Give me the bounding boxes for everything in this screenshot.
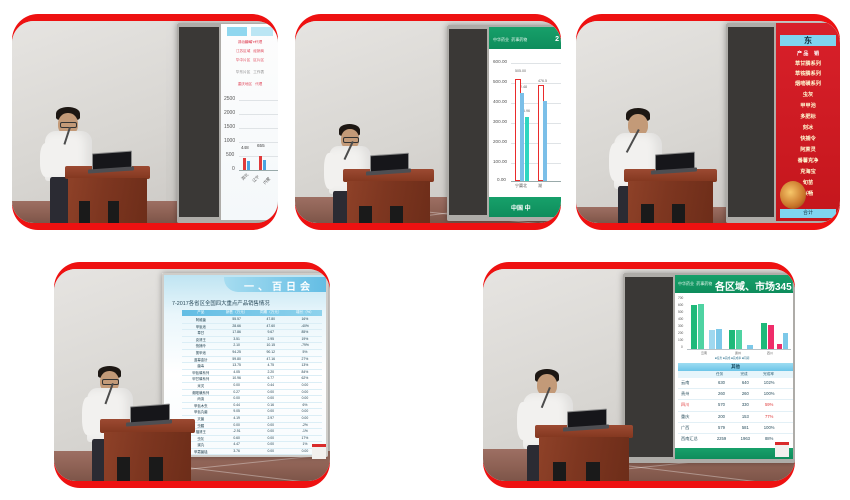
projection-screen: 中华药业 药事药物 2 中国 中 600.00 500.00 400.00 30…: [447, 25, 561, 221]
region-table: 其他 任务 完成完成率 云南630 640102% 贵州260 260100%: [678, 363, 793, 447]
table-row: 重庆200 15377%: [678, 412, 793, 423]
table-row: 云南630 640102%: [678, 378, 793, 389]
table-row: 甲氨磷系列4.052.2084%: [182, 370, 322, 377]
photo-1[interactable]: #8fd7ef 湖北区域 代理 江苏区域 经销商 华中片区 区片区 华东片区 工…: [12, 14, 278, 230]
podium: [65, 166, 150, 223]
table-group-header: 其他: [678, 363, 793, 371]
table-row: 丙溴0.000.000.00: [182, 396, 322, 403]
table-row: 甲甘磷系列10.966.7762%: [182, 376, 322, 383]
photo-4[interactable]: 一、百日会 7-2017各省区全国四大重点产品销售情况 产品 销售（万元） 同期…: [54, 262, 330, 488]
projection-screen: #8fd7ef 湖北区域 代理 江苏区域 经销商 华中片区 区片区 华东片区 工…: [177, 23, 278, 223]
photo-4-image: 一、百日会 7-2017各省区全国四大重点产品销售情况 产品 销售（万元） 同期…: [54, 269, 330, 481]
table-row: 贵州260 260100%: [678, 389, 793, 400]
table-row: 米灵0.000.440.00: [182, 383, 322, 390]
slide-region-performance: 中华药业 药事药物 各区域、市场345白 700 600 500 400 300…: [675, 275, 793, 459]
floor-object: [312, 444, 326, 459]
slide-red-product-list: 东 产 品 销 草甘膦系列 草铵膦系列 烟嘧磺系列 虫灰 甲甲池 多肥标 刻冰 …: [776, 23, 840, 221]
table-header-row: 任务 完成完成率: [678, 371, 793, 378]
slide-title-band: 东: [780, 35, 836, 46]
projection-screen: 东 产 品 销 草甘膦系列 草铵膦系列 烟嘧磺系列 虫灰 甲甲池 多肥标 刻冰 …: [726, 23, 840, 223]
decorative-graphic: [780, 181, 806, 209]
table-row: 菌毒13.754.7513%: [182, 363, 322, 370]
table-row: 虫腥0.000.00-2%: [182, 423, 322, 430]
slide-title: 各区域、市场345白: [715, 278, 793, 293]
table-row: 甲氨丸菌9.050.000.00: [182, 409, 322, 416]
slide-title: 一、百日会: [244, 278, 314, 293]
podium: [624, 169, 717, 223]
table-row: 广西579 581100%: [678, 423, 793, 434]
podium: [535, 425, 633, 481]
table-row: 福清王-2.910.00-1%: [182, 429, 322, 436]
table-row: 滅丸4.470.001%: [182, 442, 322, 449]
photo-3-image: 东 产 品 销 草甘膦系列 草铵膦系列 烟嘧磺系列 虫灰 甲甲池 多肥标 刻冰 …: [576, 21, 840, 223]
photo-3[interactable]: 东 产 品 销 草甘膦系列 草铵膦系列 烟嘧磺系列 虫灰 甲甲池 多肥标 刻冰 …: [576, 14, 840, 230]
photo-2-image: 中华药业 药事药物 2 中国 中 600.00 500.00 400.00 30…: [295, 21, 561, 223]
bar-chart: 600.00 500.00 400.00 300.00 200.00 100.0…: [491, 55, 561, 193]
table-row: 甲氨池28.6647.60-40%: [182, 324, 322, 331]
photo-5-image: 中华药业 药事药物 各区域、市场345白 700 600 500 400 300…: [483, 269, 795, 481]
table-row: 克清王3.512.9519%: [182, 337, 322, 344]
table-row: 甲氨木虫0.440.166%: [182, 403, 322, 410]
photo-1-image: #8fd7ef 湖北区域 代理 江苏区域 经销商 华中片区 区片区 华东片区 工…: [12, 21, 278, 223]
bar-chart: 700 600 500 400 300 200 100 0: [677, 295, 791, 361]
photo-collage: #8fd7ef 湖北区域 代理 江苏区域 经销商 华中片区 区片区 华东片区 工…: [0, 0, 850, 500]
table-row: 四川570 33059%: [678, 400, 793, 411]
podium: [100, 419, 195, 481]
slide-red-table-barchart: #8fd7ef 湖北区域 代理 江苏区域 经销商 华中片区 区片区 华东片区 工…: [221, 24, 278, 220]
projection-screen: 中华药业 药事药物 各区域、市场345白 700 600 500 400 300…: [623, 273, 795, 463]
slide-subtitle: 7-2017各省区全国四大重点产品销售情况: [172, 299, 270, 307]
table-row: 烟嘧磺系列0.270.000.00: [182, 390, 322, 397]
table-row: 蓝幕金针59.8047.1627%: [182, 357, 322, 364]
table-row: 灭菌4.192.970.00: [182, 416, 322, 423]
podium: [343, 169, 434, 223]
bar-chart: 2500 2000 1500 1000 500 0: [224, 96, 278, 206]
table-body: 阿维菌55.5747.8016% 甲氨池28.6647.60-40% 草甘17.…: [182, 317, 322, 451]
table-row: 快捕令2.1010.15-79%: [182, 343, 322, 350]
table-row: 虫灰0.600.0017%: [182, 436, 322, 443]
table-row: 草甘17.869.6785%: [182, 330, 322, 337]
photo-5[interactable]: 中华药业 药事药物 各区域、市场345白 700 600 500 400 300…: [483, 262, 795, 488]
table-row: 氯甲池94.2590.125%: [182, 350, 322, 357]
table-row: 阿维菌55.5747.8016%: [182, 317, 322, 324]
table-row: 甲霜菌锰3.760.000.00: [182, 449, 322, 455]
chart-legend: ■任务 ■完成 ■完成率 ■同期: [715, 356, 749, 360]
slide-green-barchart: 中华药业 药事药物 2 中国 中 600.00 500.00 400.00 30…: [489, 27, 561, 217]
photo-2[interactable]: 中华药业 药事药物 2 中国 中 600.00 500.00 400.00 30…: [295, 14, 561, 230]
slide-total-band: 合计: [780, 209, 836, 218]
floor-object: [775, 442, 789, 457]
